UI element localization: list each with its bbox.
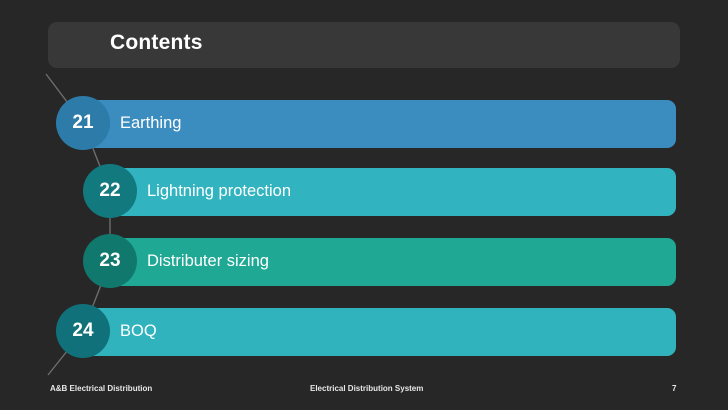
item-label-24: BOQ <box>120 322 157 341</box>
footer-company: A&B Electrical Distribution <box>50 384 152 393</box>
item-label-23: Distributer sizing <box>147 252 269 271</box>
item-label-22: Lightning protection <box>147 182 291 201</box>
item-label-21: Earthing <box>120 114 181 133</box>
footer-page-number: 7 <box>672 384 676 393</box>
item-number-24: 24 <box>56 304 110 358</box>
footer-subject: Electrical Distribution System <box>310 384 423 393</box>
item-number-22: 22 <box>83 164 137 218</box>
item-bar-24[interactable] <box>83 308 676 356</box>
slide-contents: Contents 21 Earthing 22 Lightning protec… <box>0 0 728 410</box>
item-number-21: 21 <box>56 96 110 150</box>
page-title: Contents <box>110 31 203 55</box>
item-number-23: 23 <box>83 234 137 288</box>
